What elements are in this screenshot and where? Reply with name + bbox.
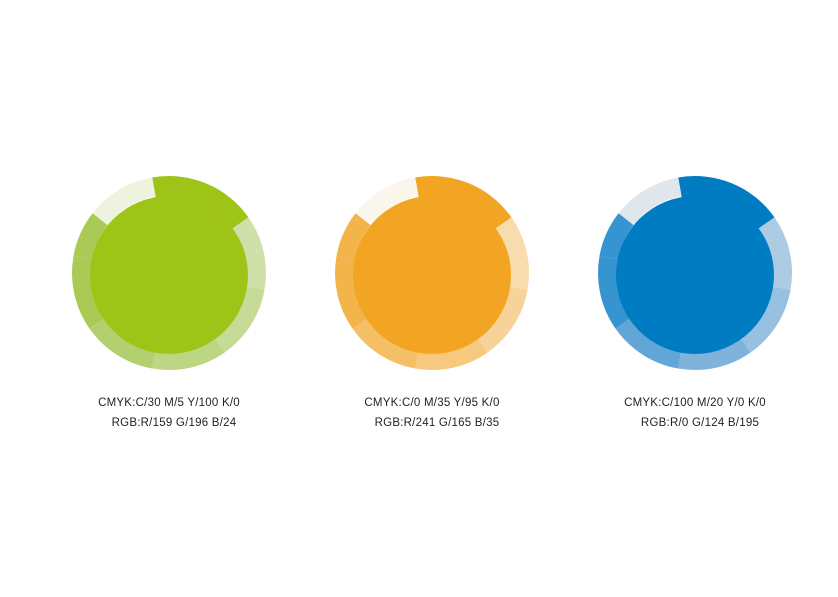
cmyk-label-blue: CMYK:C/100 M/20 Y/0 K/0	[565, 393, 825, 413]
core-disc	[90, 196, 248, 354]
rgb-label-green: RGB:R/159 G/196 B/24	[39, 413, 299, 433]
rgb-label-blue: RGB:R/0 G/124 B/195	[565, 413, 825, 433]
blue-swatch: CMYK:C/100 M/20 Y/0 K/0RGB:R/0 G/124 B/1…	[565, 175, 825, 433]
rgb-label-orange: RGB:R/241 G/165 B/35	[302, 413, 562, 433]
color-wheel-green	[71, 175, 267, 371]
core-disc	[616, 196, 774, 354]
green-swatch: CMYK:C/30 M/5 Y/100 K/0RGB:R/159 G/196 B…	[39, 175, 299, 433]
core-disc	[353, 196, 511, 354]
swatch-wheel-orange	[334, 175, 530, 371]
spec-block-green: CMYK:C/30 M/5 Y/100 K/0RGB:R/159 G/196 B…	[39, 393, 299, 433]
spec-block-blue: CMYK:C/100 M/20 Y/0 K/0RGB:R/0 G/124 B/1…	[565, 393, 825, 433]
swatch-wheel-blue	[597, 175, 793, 371]
cmyk-label-orange: CMYK:C/0 M/35 Y/95 K/0	[302, 393, 562, 413]
spec-block-orange: CMYK:C/0 M/35 Y/95 K/0RGB:R/241 G/165 B/…	[302, 393, 562, 433]
orange-swatch: CMYK:C/0 M/35 Y/95 K/0RGB:R/241 G/165 B/…	[302, 175, 562, 433]
color-wheel-blue	[597, 175, 793, 371]
cmyk-label-green: CMYK:C/30 M/5 Y/100 K/0	[39, 393, 299, 413]
palette-board: CMYK:C/30 M/5 Y/100 K/0RGB:R/159 G/196 B…	[0, 0, 838, 597]
swatch-wheel-green	[71, 175, 267, 371]
color-wheel-orange	[334, 175, 530, 371]
